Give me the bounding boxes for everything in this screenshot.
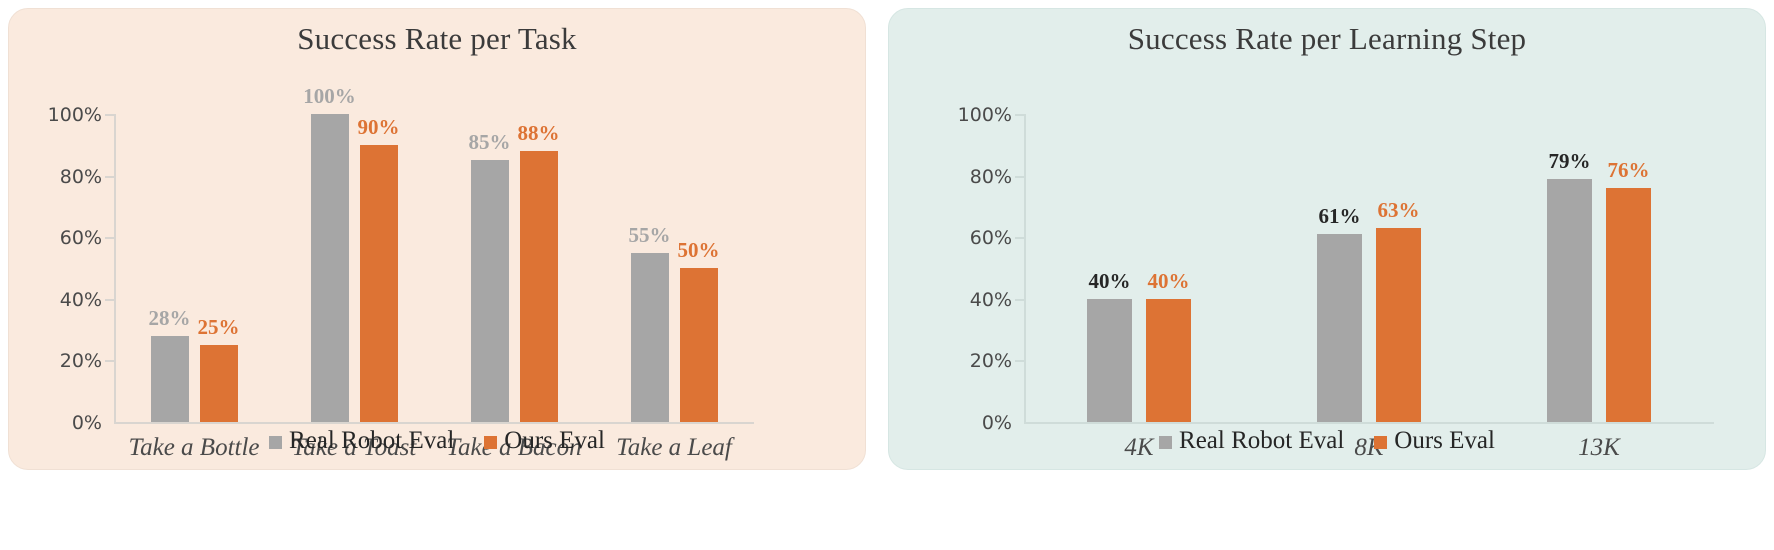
x-axis-baseline [114, 422, 754, 424]
legend-swatch-icon [1159, 436, 1172, 449]
bar-data-label: 90% [358, 115, 400, 140]
bar-data-label: 76% [1608, 158, 1650, 183]
legend-item[interactable]: Ours Eval [484, 427, 605, 455]
left-legend: Real Robot EvalOurs Eval [9, 427, 865, 455]
bar-ours-eval [520, 151, 558, 422]
bar-data-label: 28% [149, 306, 191, 331]
x-axis-baseline [1024, 422, 1714, 424]
y-axis-tick [1015, 176, 1024, 178]
bar-ours-eval [1146, 299, 1191, 422]
bar-ours-eval [1376, 228, 1421, 422]
legend-label: Real Robot Eval [289, 427, 454, 455]
bar-data-label: 85% [469, 130, 511, 155]
y-axis-tick [1015, 299, 1024, 301]
y-axis-tick [105, 176, 114, 178]
bar-ours-eval [200, 345, 238, 422]
y-axis-tick [1015, 360, 1024, 362]
bar-ours-eval [360, 145, 398, 422]
bar-data-label: 40% [1148, 269, 1190, 294]
y-axis-tick-label: 80% [946, 166, 1012, 188]
y-axis-tick [105, 360, 114, 362]
bar-real-robot-eval [471, 160, 509, 422]
legend-label: Ours Eval [504, 427, 605, 455]
bar-data-label: 79% [1549, 149, 1591, 174]
bar-real-robot-eval [631, 253, 669, 422]
bar-data-label: 61% [1319, 204, 1361, 229]
bar-data-label: 88% [518, 121, 560, 146]
bar-data-label: 25% [198, 315, 240, 340]
bar-data-label: 100% [303, 84, 356, 109]
bar-real-robot-eval [1547, 179, 1592, 422]
y-axis-tick-label: 100% [36, 104, 102, 126]
bar-ours-eval [680, 268, 718, 422]
y-axis-tick-label: 40% [36, 289, 102, 311]
bar-real-robot-eval [311, 114, 349, 422]
legend-item[interactable]: Ours Eval [1374, 427, 1495, 455]
y-axis-tick [105, 299, 114, 301]
panel-success-rate-per-learning-step: Success Rate per Learning Step 100%80%60… [888, 8, 1766, 470]
legend-swatch-icon [269, 436, 282, 449]
y-axis-tick [1015, 237, 1024, 239]
legend-label: Real Robot Eval [1179, 427, 1344, 455]
y-axis-tick [1015, 114, 1024, 116]
bar-real-robot-eval [1087, 299, 1132, 422]
y-axis-tick-label: 60% [36, 227, 102, 249]
left-plot-area: 100%80%60%40%20%0%28%25%Take a Bottle100… [9, 9, 867, 409]
y-axis-tick-label: 20% [946, 350, 1012, 372]
y-axis-tick [105, 237, 114, 239]
bar-real-robot-eval [151, 336, 189, 422]
y-axis-tick [105, 114, 114, 116]
y-axis-tick-label: 100% [946, 104, 1012, 126]
right-plot-area: 100%80%60%40%20%0%40%40%4K61%63%8K79%76%… [889, 9, 1767, 409]
bar-ours-eval [1606, 188, 1651, 422]
y-axis-line [114, 114, 116, 424]
legend-swatch-icon [484, 436, 497, 449]
y-axis-tick-label: 60% [946, 227, 1012, 249]
legend-label: Ours Eval [1394, 427, 1495, 455]
y-axis-line [1024, 114, 1026, 424]
bar-data-label: 55% [629, 223, 671, 248]
y-axis-tick-label: 40% [946, 289, 1012, 311]
panel-success-rate-per-task: Success Rate per Task 100%80%60%40%20%0%… [8, 8, 866, 470]
legend-item[interactable]: Real Robot Eval [1159, 427, 1344, 455]
bar-data-label: 40% [1089, 269, 1131, 294]
bar-data-label: 50% [678, 238, 720, 263]
y-axis-tick-label: 20% [36, 350, 102, 372]
bar-real-robot-eval [1317, 234, 1362, 422]
figure-root: Success Rate per Task 100%80%60%40%20%0%… [0, 0, 1774, 550]
y-axis-tick-label: 80% [36, 166, 102, 188]
legend-swatch-icon [1374, 436, 1387, 449]
right-legend: Real Robot EvalOurs Eval [889, 427, 1765, 455]
bar-data-label: 63% [1378, 198, 1420, 223]
legend-item[interactable]: Real Robot Eval [269, 427, 454, 455]
